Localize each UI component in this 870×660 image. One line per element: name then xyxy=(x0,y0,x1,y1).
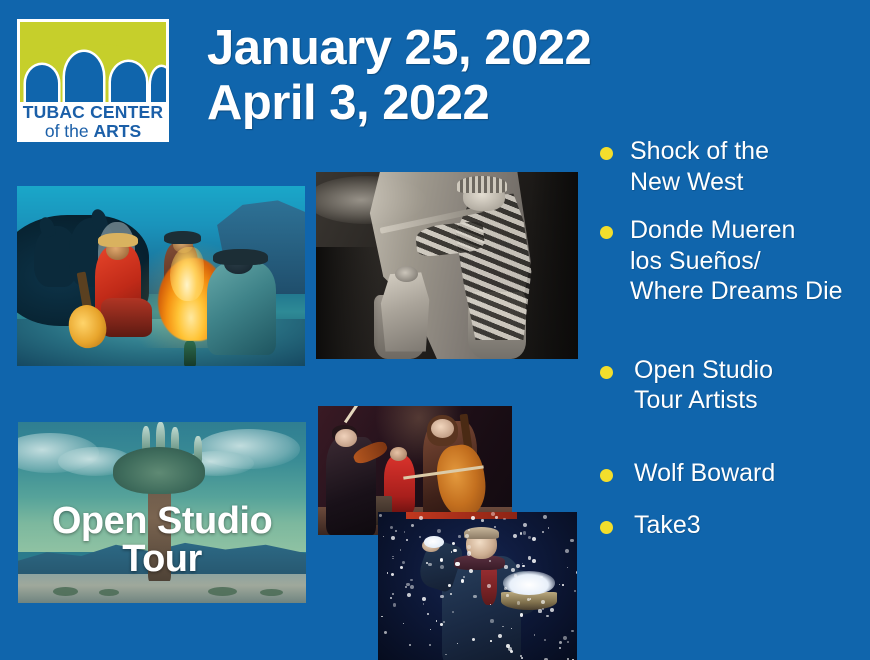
event-date-headline: January 25, 2022 April 3, 2022 xyxy=(207,21,591,131)
list-item[interactable]: Take3 xyxy=(592,510,870,541)
logo-arch-opening-2 xyxy=(65,52,103,102)
campfire-flame-tip xyxy=(170,247,205,301)
list-item-label: Donde Mueren los Sueños/ Where Dreams Di… xyxy=(630,215,870,307)
logo-line-2-prefix: of the xyxy=(45,121,94,141)
campfire-figure-middle-hat xyxy=(164,231,201,244)
snow-juggler-photo xyxy=(378,512,577,660)
logo-line-2: of the ARTS xyxy=(17,123,169,141)
campfire-figure-blue-back xyxy=(207,262,276,356)
list-item[interactable]: Wolf Boward xyxy=(592,458,870,489)
list-item-label: Open Studio Tour Artists xyxy=(634,355,870,416)
ost-bush-3 xyxy=(208,587,237,596)
bullet-dot-icon xyxy=(600,469,613,482)
open-studio-tour-painting: Open Studio Tour xyxy=(18,422,306,603)
logo-arch-opening-3 xyxy=(111,62,146,102)
list-item-label: Wolf Boward xyxy=(634,458,870,489)
event-poster: TUBAC CENTER of the ARTS January 25, 202… xyxy=(0,0,870,660)
charcoal-shadow-right xyxy=(531,172,578,359)
logo-line-1: TUBAC CENTER xyxy=(17,104,169,122)
campfire-figure-red-legs xyxy=(101,298,153,338)
list-item-label: Shock of the New West xyxy=(630,136,870,197)
bullet-dot-icon xyxy=(600,366,613,379)
campfire-bottle xyxy=(184,341,196,366)
juggler-snowball xyxy=(424,536,444,548)
bullet-dot-icon xyxy=(600,521,613,534)
musicians-cellist-head xyxy=(431,419,454,438)
ost-caption: Open Studio Tour xyxy=(18,502,306,578)
charcoal-shadow-left xyxy=(316,247,379,359)
ost-yucca-crown xyxy=(113,447,205,494)
tubac-center-of-the-arts-logo: TUBAC CENTER of the ARTS xyxy=(17,19,169,142)
charcoal-drawing xyxy=(316,172,578,359)
logo-arch-opening-1 xyxy=(26,65,58,102)
ost-bush-2 xyxy=(99,589,119,596)
bullet-dot-icon xyxy=(600,226,613,239)
list-item-label: Take3 xyxy=(634,510,870,541)
bullet-dot-icon xyxy=(600,147,613,160)
ost-bush-4 xyxy=(260,589,283,596)
ost-bush-1 xyxy=(53,587,79,596)
logo-line-2-suffix: ARTS xyxy=(94,121,142,141)
list-item[interactable]: Shock of the New West xyxy=(592,136,870,197)
list-item[interactable]: Open Studio Tour Artists xyxy=(592,355,870,416)
campfire-figure-blue-hat xyxy=(213,249,268,265)
campfire-figure-red-hat xyxy=(98,233,138,247)
charcoal-checkered-figure-cap xyxy=(457,176,507,193)
headline-line-1: January 25, 2022 xyxy=(207,21,591,76)
logo-wordmark: TUBAC CENTER of the ARTS xyxy=(17,104,169,140)
program-list: Shock of the New West Donde Mueren los S… xyxy=(592,136,870,541)
musicians-violinist-head xyxy=(335,429,356,447)
headline-line-2: April 3, 2022 xyxy=(207,76,591,131)
list-item[interactable]: Donde Mueren los Sueños/ Where Dreams Di… xyxy=(592,215,870,307)
juggler-snow-pile xyxy=(503,571,555,595)
campfire-painting xyxy=(17,186,305,366)
logo-arch-opening-4 xyxy=(151,67,166,102)
logo-arches-graphic xyxy=(20,22,166,102)
